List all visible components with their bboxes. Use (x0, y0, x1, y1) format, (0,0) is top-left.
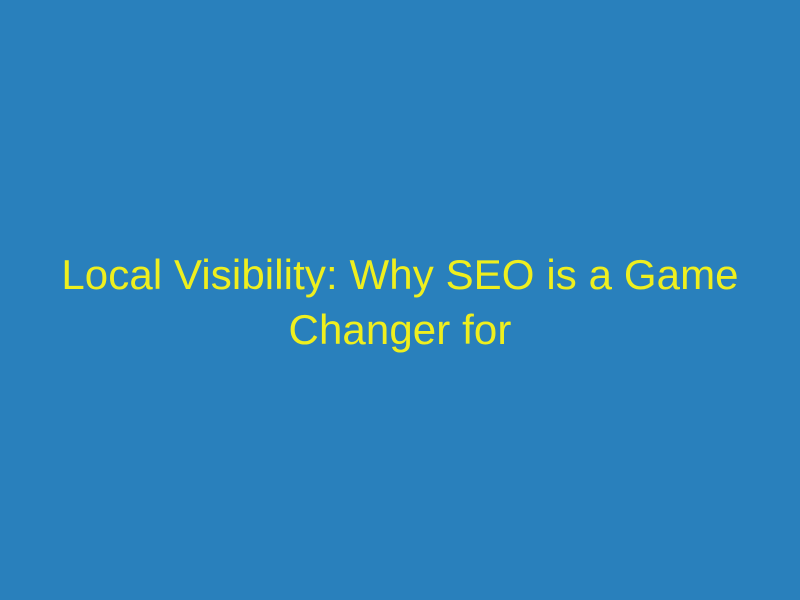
page-title: Local Visibility: Why SEO is a Game Chan… (50, 247, 750, 357)
featured-image-card: Local Visibility: Why SEO is a Game Chan… (0, 0, 800, 600)
title-block: Local Visibility: Why SEO is a Game Chan… (50, 247, 750, 357)
